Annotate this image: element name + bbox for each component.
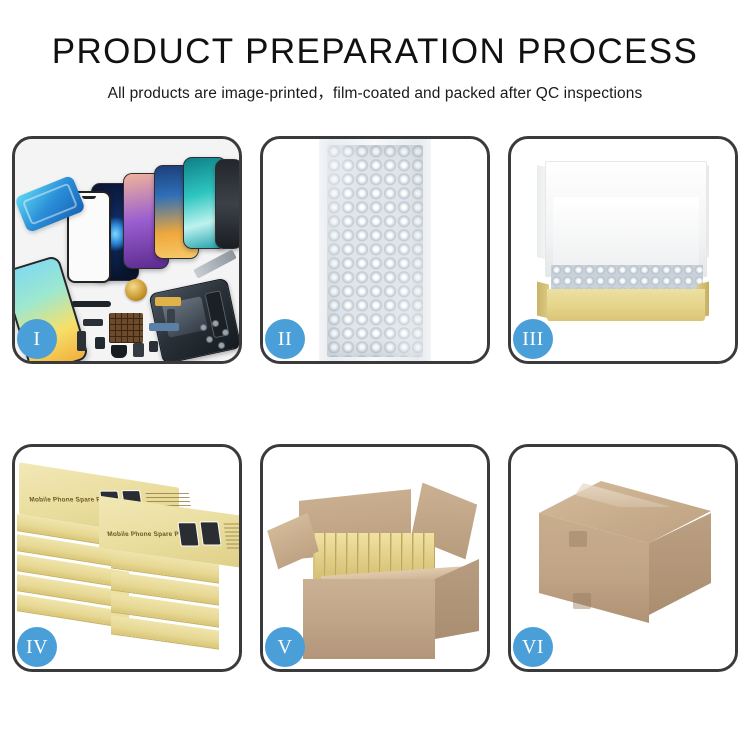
taptic-part-icon [111, 345, 127, 358]
camera-flex-icon [149, 323, 179, 331]
step-panel-5: V [260, 444, 490, 672]
speaker-part-icon [125, 279, 147, 301]
screw-icon [219, 343, 224, 348]
step-badge-2: II [265, 319, 305, 359]
spare-parts-group [71, 279, 201, 361]
carton-tape-tab [573, 593, 591, 609]
bubble-wrap-icon [327, 145, 423, 357]
step-badge-6: VI [513, 627, 553, 667]
yellow-box-item [315, 533, 324, 581]
connector-part-icon [155, 297, 181, 306]
step-panel-4: Mobile Phone Spare Parts Mobile Phone Sp… [12, 444, 242, 672]
page-subtitle: All products are image-printed，film-coat… [0, 81, 750, 103]
sim-tray-icon [95, 337, 105, 349]
box-phone-image [199, 521, 221, 545]
ic-chip-icon [109, 313, 143, 343]
yellow-box-item [326, 533, 335, 581]
header: PRODUCT PREPARATION PROCESS All products… [0, 0, 750, 103]
process-steps-grid: I II III [12, 136, 738, 672]
step-badge-1: I [17, 319, 57, 359]
step-panel-2: II [260, 136, 490, 364]
battery-part-icon [133, 343, 144, 357]
step-badge-5: V [265, 627, 305, 667]
box-spec-lines [223, 522, 239, 548]
step-panel-3: III [508, 136, 738, 364]
screws-group [199, 321, 233, 351]
step-panel-1: I [12, 136, 242, 364]
step-badge-4: IV [17, 627, 57, 667]
box-phone-image [177, 522, 199, 546]
carton-tape-tab [569, 531, 587, 547]
flex-cable-icon [71, 301, 111, 307]
step-panel-6: VI [508, 444, 738, 672]
screw-icon [207, 337, 212, 342]
phone-dark-icon [215, 159, 239, 249]
screw-icon [223, 330, 228, 335]
antenna-part-icon [83, 319, 103, 326]
kraft-box-icon [547, 289, 705, 321]
button-flex-icon [77, 331, 86, 351]
screw-icon [213, 321, 218, 326]
step-badge-3: III [513, 319, 553, 359]
bubble-wrap-contents-icon [551, 265, 703, 291]
screw-icon [201, 325, 206, 330]
carton-front-face [303, 579, 435, 659]
page-title: PRODUCT PREPARATION PROCESS [0, 34, 750, 69]
small-part-icon [149, 341, 158, 352]
foam-sheet-icon [553, 197, 699, 265]
